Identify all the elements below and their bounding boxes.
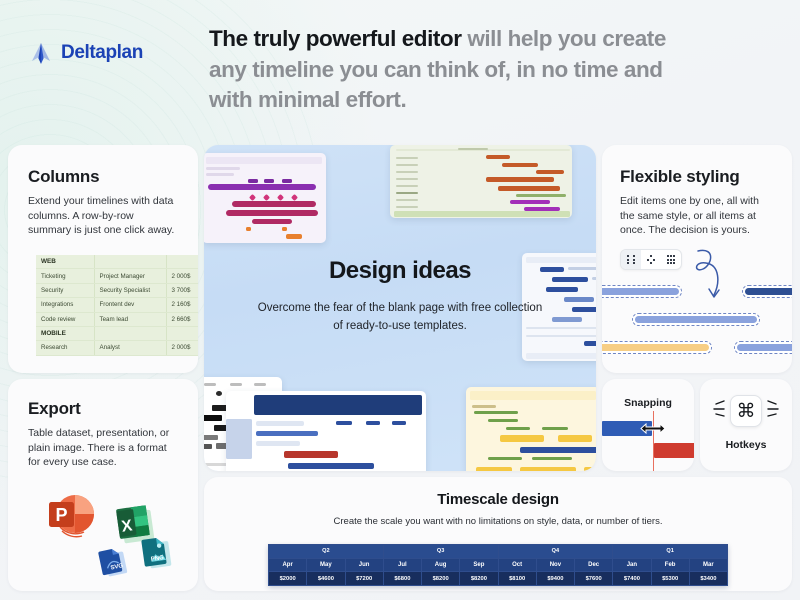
table-group-row: WEB [36,255,198,269]
value-cell: $7200 [345,572,383,586]
table-cell [166,255,198,269]
design-ideas-panel: Design ideas Overcome the fear of the bl… [204,145,596,471]
grid-sparse-icon[interactable] [621,250,641,269]
styling-card-title: Flexible styling [620,167,774,187]
styling-card-body: Edit items one by one, all with the same… [620,194,774,238]
timescale-quarter-row: Q2Q3Q4Q1 [269,545,728,559]
table-cell [94,326,166,340]
grid-dense-icon[interactable] [661,250,681,269]
table-row: TicketingProject Manager2 000$ [36,269,198,283]
table-cell [166,326,198,340]
columns-card-body: Extend your timelines with data columns.… [28,194,178,238]
svg-file-icon: SVG [96,543,130,582]
table-cell: Code review [36,312,94,326]
snap-bar-right[interactable] [654,443,694,458]
snapping-card-title: Snapping [602,397,694,409]
columns-preview-table: WEBTicketingProject Manager2 000$Securit… [36,255,198,356]
snap-guide-line [653,411,654,471]
hotkeys-card: ⌘ Hotkeys [700,379,792,471]
month-cell: Feb [651,558,689,571]
table-cell: 2 000$ [166,269,198,283]
month-cell: Jul [383,558,421,571]
table-cell: Integrations [36,298,94,312]
month-cell: Oct [498,558,536,571]
month-cell: May [307,558,345,571]
table-cell: Research [36,341,94,355]
brand-name: Deltaplan [61,42,143,64]
flexible-styling-card: Flexible styling Edit items one by one, … [602,145,792,373]
command-key-icon[interactable]: ⌘ [730,395,762,427]
table-row: SecuritySecurity Specialist3 700$ [36,283,198,297]
table-cell [94,255,166,269]
month-cell: Mar [689,558,727,571]
style-bar-5[interactable] [734,341,792,354]
deltaplan-logo-icon [28,40,54,66]
value-cell: $8200 [460,572,498,586]
table-cell: MOBILE [36,326,94,340]
month-cell: Nov [536,558,574,571]
value-cell: $9400 [536,572,574,586]
command-glyph: ⌘ [737,400,756,423]
blue-gantt-preview [226,391,426,471]
density-segmented-control[interactable] [620,249,682,270]
quarter-cell: Q3 [383,545,498,559]
design-ideas-body: Overcome the fear of the blank page with… [254,300,546,335]
table-cell: Analyst [94,341,166,355]
value-cell: $8100 [498,572,536,586]
style-bar-3[interactable] [632,313,760,326]
style-bar-1[interactable] [602,285,682,298]
headline-emphasis: The truly powerful editor [209,26,462,51]
snapping-illustration [602,419,694,471]
table-cell: 2 660$ [166,312,198,326]
table-cell: Ticketing [36,269,94,283]
hotkeys-card-title: Hotkeys [700,439,792,451]
table-cell: Project Manager [94,269,166,283]
svg-text:P: P [55,505,67,525]
columns-card-title: Columns [28,167,178,187]
timescale-month-row: AprMayJunJulAugSepOctNovDecJanFebMar [269,558,728,571]
table-group-row: MOBILE [36,326,198,340]
table-cell: Security Specialist [94,283,166,297]
month-cell: Sep [460,558,498,571]
value-cell: $6800 [383,572,421,586]
export-card-body: Table dataset, presentation, or plain im… [28,426,178,470]
resize-cursor-icon [640,422,666,440]
export-format-icons: P X [38,483,188,583]
export-feature-card: Export Table dataset, presentation, or p… [8,379,198,591]
timescale-card-body: Create the scale you want with no limita… [204,508,792,527]
timescale-design-card: Timescale design Create the scale you wa… [204,477,792,591]
value-cell: $8200 [422,572,460,586]
style-bar-4[interactable] [602,341,712,354]
design-ideas-title: Design ideas [204,257,596,285]
table-cell: 2 160$ [166,298,198,312]
grid-medium-icon[interactable] [641,250,661,269]
timescale-table: Q2Q3Q4Q1 AprMayJunJulAugSepOctNovDecJanF… [268,544,728,586]
month-cell: Apr [269,558,307,571]
timescale-card-title: Timescale design [204,477,792,508]
value-cell: $2000 [269,572,307,586]
snapping-card: Snapping [602,379,694,471]
value-cell: $4600 [307,572,345,586]
timescale-value-row: $2000$4600$7200$6800$8200$8200$8100$9400… [269,572,728,586]
table-cell: Team lead [94,312,166,326]
table-row: IntegrationsFrontent dev2 160$ [36,298,198,312]
quarter-cell: Q1 [613,545,728,559]
quarter-cell: Q2 [269,545,384,559]
table-row: Code reviewTeam lead2 660$ [36,312,198,326]
columns-feature-card: Columns Extend your timelines with data … [8,145,198,373]
style-bar-2[interactable] [742,285,792,298]
table-cell: Security [36,283,94,297]
spark-left-icon [712,398,726,425]
yellow-gantt-preview [466,387,596,471]
page-headline: The truly powerful editor will help you … [209,24,709,116]
quarter-cell: Q4 [498,545,613,559]
table-cell: Frontent dev [94,298,166,312]
month-cell: Jan [613,558,651,571]
table-row: ResearchAnalyst2 000$ [36,341,198,355]
powerpoint-file-icon: P [44,487,104,552]
spark-right-icon [766,398,780,425]
month-cell: Jun [345,558,383,571]
table-cell: WEB [36,255,94,269]
purple-gantt-preview [204,153,326,243]
value-cell: $5300 [651,572,689,586]
curved-arrow-icon [690,245,736,308]
table-cell: 2 000$ [166,341,198,355]
png-file-icon: PNG [138,533,176,576]
value-cell: $3400 [689,572,727,586]
value-cell: $7400 [613,572,651,586]
value-cell: $7600 [575,572,613,586]
green-gantt-preview [390,145,572,218]
export-card-title: Export [28,399,178,419]
brand-logo[interactable]: Deltaplan [28,40,143,66]
month-cell: Dec [575,558,613,571]
month-cell: Aug [422,558,460,571]
table-cell: 3 700$ [166,283,198,297]
